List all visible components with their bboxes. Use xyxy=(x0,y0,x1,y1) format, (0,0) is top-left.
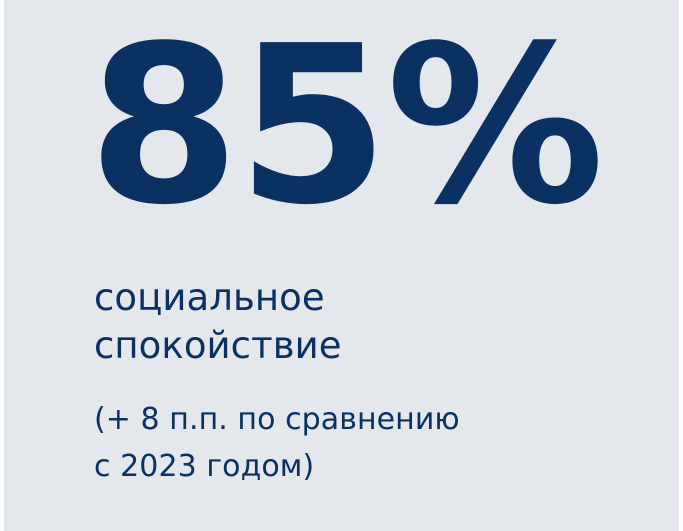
statistic-note-line-1: (+ 8 п.п. по сравнению xyxy=(94,396,594,443)
statistic-label-line-1: социальное xyxy=(94,274,574,322)
statistic-card: 85% социальное спокойствие (+ 8 п.п. по … xyxy=(4,0,679,531)
statistic-comparison-note: (+ 8 п.п. по сравнению с 2023 годом) xyxy=(94,396,594,490)
headline-percentage: 85% xyxy=(88,18,602,236)
statistic-note-line-2: с 2023 годом) xyxy=(94,443,594,490)
statistic-label-line-2: спокойствие xyxy=(94,322,574,370)
statistic-label: социальное спокойствие xyxy=(94,274,574,370)
